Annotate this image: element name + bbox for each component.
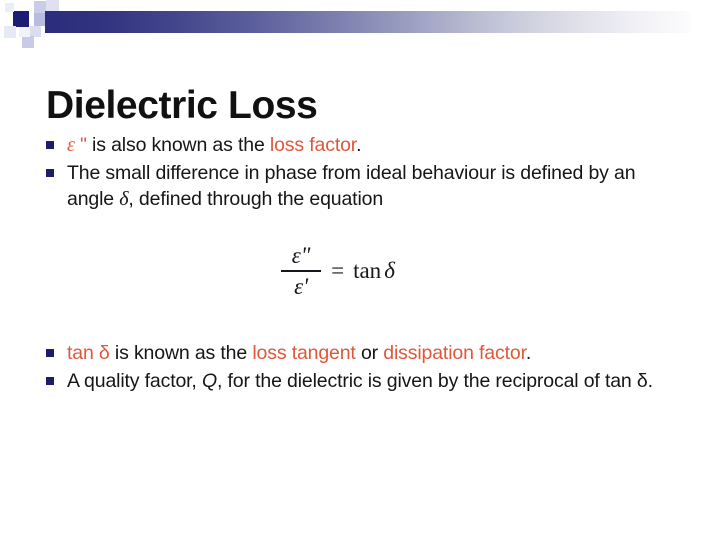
bullet-square-icon — [46, 169, 54, 177]
text-fragment: or — [356, 342, 384, 364]
bullet-item-quality-factor: A quality factor, Q, for the dielectric … — [46, 368, 686, 394]
decorative-square — [46, 0, 59, 11]
bullet-square-icon — [46, 377, 54, 385]
equation-fraction-bar — [281, 270, 321, 272]
equation-numerator: ε" — [288, 243, 315, 268]
bullet-item-phase-difference: The small difference in phase from ideal… — [46, 160, 686, 212]
text-fragment: A quality factor, — [67, 370, 202, 392]
bullet-item-loss-tangent: tan δ is known as the loss tangent or di… — [46, 340, 686, 366]
bullet-text: The small difference in phase from ideal… — [67, 160, 686, 212]
decorative-square — [19, 27, 30, 37]
header-gradient-bar — [45, 11, 690, 33]
header-decoration — [0, 0, 720, 52]
text-fragment: " — [75, 134, 87, 156]
equation-equals-sign: = — [331, 258, 344, 284]
page-title: Dielectric Loss — [46, 86, 317, 127]
text-fragment: is known as the — [110, 342, 253, 364]
text-fragment: dissipation factor — [383, 342, 526, 364]
text-fragment: . — [356, 134, 361, 156]
equation-fraction: ε" ε' — [281, 243, 321, 299]
bullet-list-lower: tan δ is known as the loss tangent or di… — [46, 340, 686, 396]
bullet-square-icon — [46, 349, 54, 357]
text-fragment: , for the dielectric is given by the rec… — [217, 370, 653, 392]
bullet-square-icon — [46, 141, 54, 149]
text-fragment: Q — [202, 370, 217, 392]
decorative-square — [5, 3, 14, 12]
text-fragment: ε — [67, 134, 75, 156]
equation-expression: ε" ε' = tanδ — [281, 243, 395, 299]
decorative-square — [22, 36, 34, 48]
text-fragment: loss tangent — [252, 342, 355, 364]
text-fragment: tan δ — [67, 342, 110, 364]
text-fragment: , defined through the equation — [128, 188, 383, 210]
equation-tan-label: tan — [353, 258, 381, 283]
equation-right-hand-side: tanδ — [353, 258, 395, 284]
equation-denominator: ε' — [290, 274, 312, 299]
text-fragment: is also known as the — [87, 134, 270, 156]
text-fragment: loss factor — [270, 134, 356, 156]
bullet-list-upper: ε " is also known as the loss factor.The… — [46, 132, 686, 214]
bullet-text: A quality factor, Q, for the dielectric … — [67, 368, 686, 394]
bullet-text: tan δ is known as the loss tangent or di… — [67, 340, 686, 366]
equation-delta-symbol: δ — [384, 258, 395, 283]
decorative-square — [4, 26, 16, 38]
bullet-text: ε " is also known as the loss factor. — [67, 132, 686, 158]
text-fragment: . — [526, 342, 531, 364]
decorative-square — [13, 11, 29, 27]
bullet-item-loss-factor: ε " is also known as the loss factor. — [46, 132, 686, 158]
equation-block: ε" ε' = tanδ — [0, 243, 720, 299]
